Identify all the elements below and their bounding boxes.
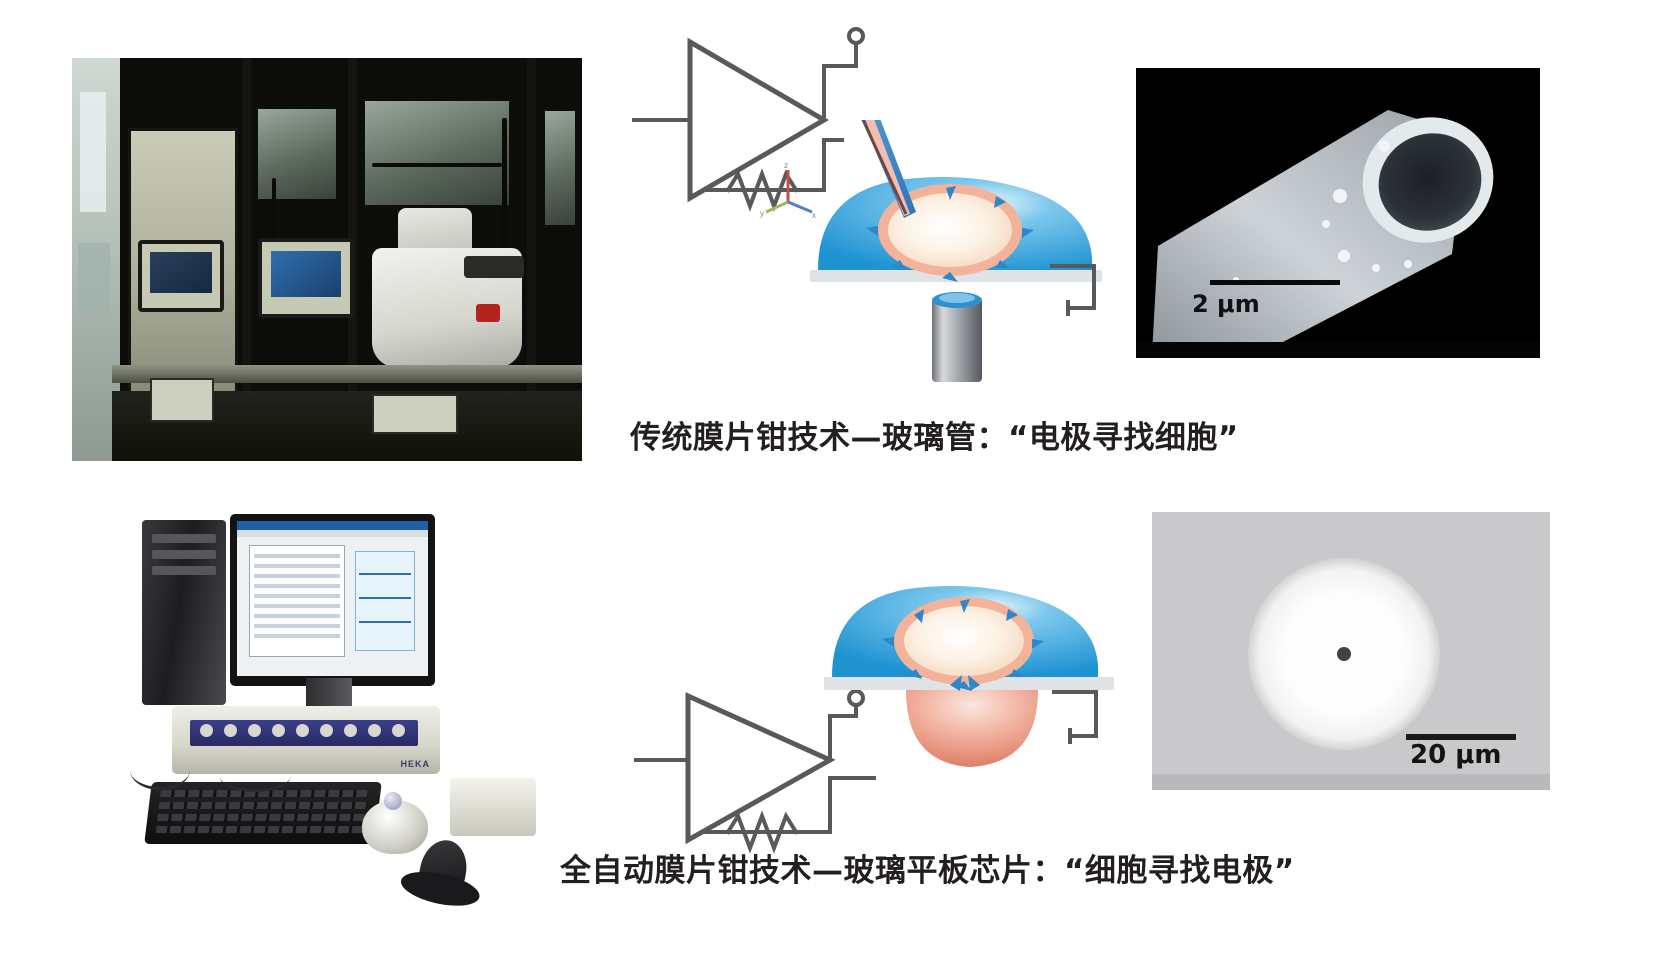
svg-text:x: x [812,211,816,220]
interface-box [450,778,536,836]
lower-chamber [906,690,1038,767]
screen-window-right [355,551,415,651]
pipette-holder-tip [384,792,402,810]
rig-wall-panel [80,92,106,212]
cell-on-planar-chip-schematic [810,545,1150,795]
screen-titlebar [237,521,428,530]
rig-lower-box-1 [150,378,214,422]
svg-text:z: z [784,161,788,170]
caption-traditional: 传统膜片钳技术—玻璃管：“电极寻找细胞” [630,412,1239,457]
rig-window-2 [362,98,512,208]
amplifier-brand-label: HEKA [400,759,430,769]
chip-aperture-pore [1337,647,1351,661]
circuit-output-node [849,29,863,43]
cable-1 [130,750,190,790]
rig-wall-panel-lower [78,243,110,313]
objective-lens [932,292,982,382]
monitor-screen [237,521,428,676]
screen-menubar [237,530,428,537]
traditional-patch-clamp-rig-photo [72,58,582,461]
rig-cable-3 [372,163,502,167]
sem-scale-bar [1210,280,1340,285]
planar-chip-aperture-sem: 20 μm [1152,512,1550,790]
glass-pipette-tip-sem: 2 μm [1136,68,1540,358]
sem-scale-label-bottom: 20 μm [1410,740,1501,770]
xyz-axis-indicator: z y x [760,160,820,220]
svg-text:y: y [760,209,764,218]
caption-automated: 全自动膜片钳技术—玻璃平板芯片：“细胞寻找电极” [560,845,1295,890]
pipette-holder-unit [362,800,428,854]
rig-lower-box-2 [372,394,458,434]
heka-amplifier-unit: HEKA [172,706,440,774]
rig-microscope-indicator [476,304,500,322]
automated-patch-clamp-workstation-photo: HEKA [120,500,590,920]
pipette-approaching-cell-schematic [800,120,1140,390]
patch-clamp-comparison-figure: z y x [0,0,1663,980]
rig-microscope-arm [464,256,524,278]
screen-window-left [249,545,345,657]
ground-connector-top [1048,262,1118,322]
computer-tower [142,520,226,705]
ground-connector-bottom [1050,688,1120,750]
rig-cable-1 [272,178,276,238]
cable-2 [220,762,290,792]
computer-mouse [414,836,472,906]
sem-info-strip-top [1136,342,1540,358]
rig-window-1 [255,106,339,202]
rig-monitor-1 [138,240,224,312]
sem-info-strip-bottom [1152,774,1550,790]
sem-scale-label-top: 2 μm [1192,290,1260,318]
rig-window-3 [542,108,578,228]
mouse-shadow [398,866,482,912]
rig-cable-2 [502,118,507,248]
rig-monitor-2 [258,238,354,318]
computer-monitor [230,514,435,686]
